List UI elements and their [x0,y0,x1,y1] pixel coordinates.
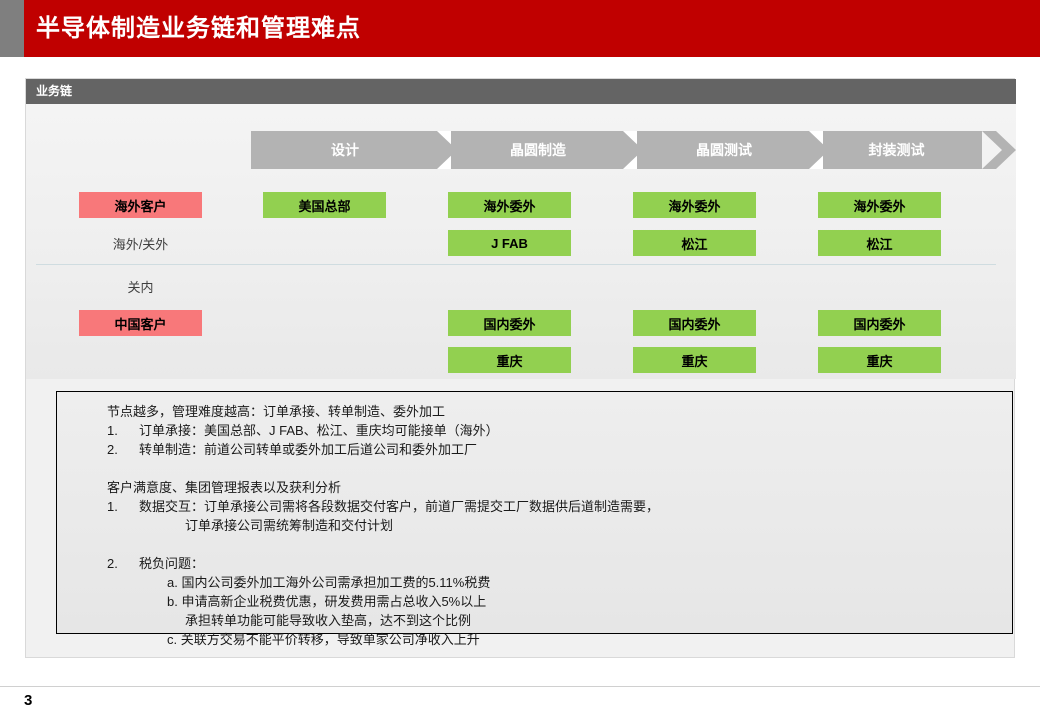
footer-divider [0,686,1040,687]
node-overseas-customer[interactable]: 海外客户 [79,192,202,218]
node-domestic-outsourcing-1[interactable]: 国内委外 [448,310,571,336]
notes-sub-a: a. 国内公司委外加工海外公司需承担加工费的5.11%税费 [107,573,1004,592]
diagram-area: 设计 晶圆制造 晶圆测试 封装测试 海外客户 美国总部 海外委外 [26,104,1016,379]
chevron-tail-icon [982,131,1016,169]
node-us-headquarters[interactable]: 美国总部 [263,192,386,218]
notes-spacer-1 [107,459,1004,478]
business-chain-panel: 业务链 设计 晶圆制造 晶圆测试 封装测试 海外客户 美 [25,78,1015,658]
panel-header-label: 业务链 [36,79,72,104]
chevron-stage-2-label: 晶圆制造 [510,140,566,160]
page-number: 3 [24,692,32,709]
node-songjiang-1-label: 松江 [681,234,707,253]
notes-item-1: 1. 订单承接：美国总部、J FAB、松江、重庆均可能接单（海外） [107,421,1004,440]
node-domestic-outsourcing-3-label: 国内委外 [853,314,905,333]
node-overseas-outsourcing-2[interactable]: 海外委外 [633,192,756,218]
node-overseas-outsourcing-1[interactable]: 海外委外 [448,192,571,218]
node-overseas-customer-label: 海外客户 [114,196,166,215]
page-title: 半导体制造业务链和管理难点 [36,0,361,57]
notes-heading-1: 节点越多，管理难度越高：订单承接、转单制造、委外加工 [107,402,1004,421]
section-divider [36,264,996,265]
node-domestic-outsourcing-2[interactable]: 国内委外 [633,310,756,336]
node-chongqing-2-label: 重庆 [681,351,707,370]
node-overseas-outsourcing-3[interactable]: 海外委外 [818,192,941,218]
node-songjiang-2-label: 松江 [866,234,892,253]
node-songjiang-2[interactable]: 松江 [818,230,941,256]
node-j-fab[interactable]: J FAB [448,230,571,256]
node-overseas-outsourcing-1-label: 海外委外 [483,196,535,215]
section-label-overseas: 海外/关外 [79,230,202,256]
notes-item-4-text: 税负问题： [139,554,204,573]
notes-sub-b: b. 申请高新企业税费优惠，研发费用需占总收入5%以上 [107,592,1004,611]
chevron-stage-3-label: 晶圆测试 [696,140,752,160]
notes-item-4-number: 2. [107,554,139,573]
process-chevron-row: 设计 晶圆制造 晶圆测试 封装测试 [251,131,996,169]
node-overseas-outsourcing-2-label: 海外委外 [668,196,720,215]
node-j-fab-label: J FAB [491,236,528,251]
notes-item-1-text: 订单承接：美国总部、J FAB、松江、重庆均可能接单（海外） [139,421,499,440]
notes-heading-2: 客户满意度、集团管理报表以及获利分析 [107,478,1004,497]
node-china-customer[interactable]: 中国客户 [79,310,202,336]
notes-item-3-number: 1. [107,497,139,516]
notes-item-4: 2. 税负问题： [107,554,1004,573]
chevron-stage-3[interactable]: 晶圆测试 [637,131,823,169]
node-domestic-outsourcing-3[interactable]: 国内委外 [818,310,941,336]
node-chongqing-1[interactable]: 重庆 [448,347,571,373]
notes-item-3-text: 数据交互：订单承接公司需将各段数据交付客户，前道厂需提交工厂数据供后道制造需要， [139,497,659,516]
chevron-stage-1[interactable]: 设计 [251,131,451,169]
notes-item-3-continuation: 订单承接公司需统筹制造和交付计划 [107,516,1004,535]
notes-item-2-text: 转单制造：前道公司转单或委外加工后道公司和委外加工厂 [139,440,477,459]
node-chongqing-3[interactable]: 重庆 [818,347,941,373]
notes-item-1-number: 1. [107,421,139,440]
node-domestic-outsourcing-1-label: 国内委外 [483,314,535,333]
chevron-stage-2[interactable]: 晶圆制造 [451,131,637,169]
node-chongqing-2[interactable]: 重庆 [633,347,756,373]
section-label-domestic: 关内 [79,273,202,299]
notes-sub-b-continuation: 承担转单功能可能导致收入垫高，达不到这个比例 [107,611,1004,630]
node-domestic-outsourcing-2-label: 国内委外 [668,314,720,333]
section-label-domestic-text: 关内 [127,277,153,296]
node-overseas-outsourcing-3-label: 海外委外 [853,196,905,215]
chevron-stage-1-label: 设计 [331,140,359,160]
chevron-stage-4-label: 封装测试 [869,140,925,160]
notes-spacer-2 [107,535,1004,554]
panel-header: 业务链 [26,79,1016,104]
notes-item-2: 2. 转单制造：前道公司转单或委外加工后道公司和委外加工厂 [107,440,1004,459]
chevron-stage-4[interactable]: 封装测试 [823,131,982,169]
node-chongqing-3-label: 重庆 [866,351,892,370]
notes-item-3: 1. 数据交互：订单承接公司需将各段数据交付客户，前道厂需提交工厂数据供后道制造… [107,497,1004,516]
node-songjiang-1[interactable]: 松江 [633,230,756,256]
node-chongqing-1-label: 重庆 [496,351,522,370]
node-china-customer-label: 中国客户 [114,314,166,333]
node-us-headquarters-label: 美国总部 [298,196,350,215]
notes-sub-c: c. 关联方交易不能平价转移，导致单家公司净收入上升 [107,630,1004,649]
notes-textbox: 节点越多，管理难度越高：订单承接、转单制造、委外加工 1. 订单承接：美国总部、… [56,391,1013,634]
notes-item-2-number: 2. [107,440,139,459]
section-label-overseas-text: 海外/关外 [113,234,169,253]
